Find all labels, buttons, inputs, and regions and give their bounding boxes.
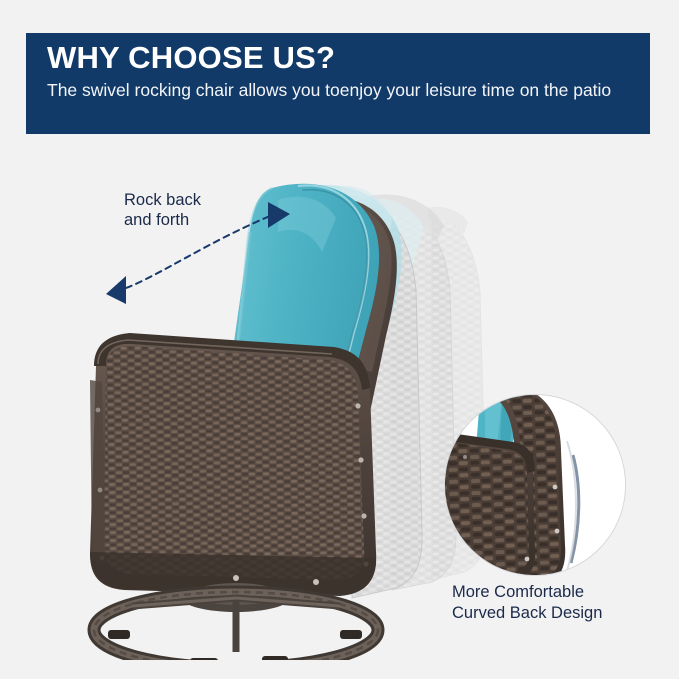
banner-subtitle: The swivel rocking chair allows you toen… (47, 79, 637, 101)
detail-inset-circle (444, 394, 626, 576)
swivel-base (94, 592, 378, 660)
banner-title: WHY CHOOSE US? (47, 40, 650, 76)
product-infographic: WHY CHOOSE US? The swivel rocking chair … (0, 0, 679, 679)
curved-back-detail (445, 395, 626, 576)
header-banner: WHY CHOOSE US? The swivel rocking chair … (26, 33, 650, 134)
arrowhead-right (268, 202, 290, 228)
inset-caption: More Comfortable Curved Back Design (452, 582, 667, 624)
arrowhead-left (106, 276, 126, 304)
rock-annotation-label: Rock back and forth (124, 190, 201, 230)
chair-side-panel (90, 333, 376, 596)
